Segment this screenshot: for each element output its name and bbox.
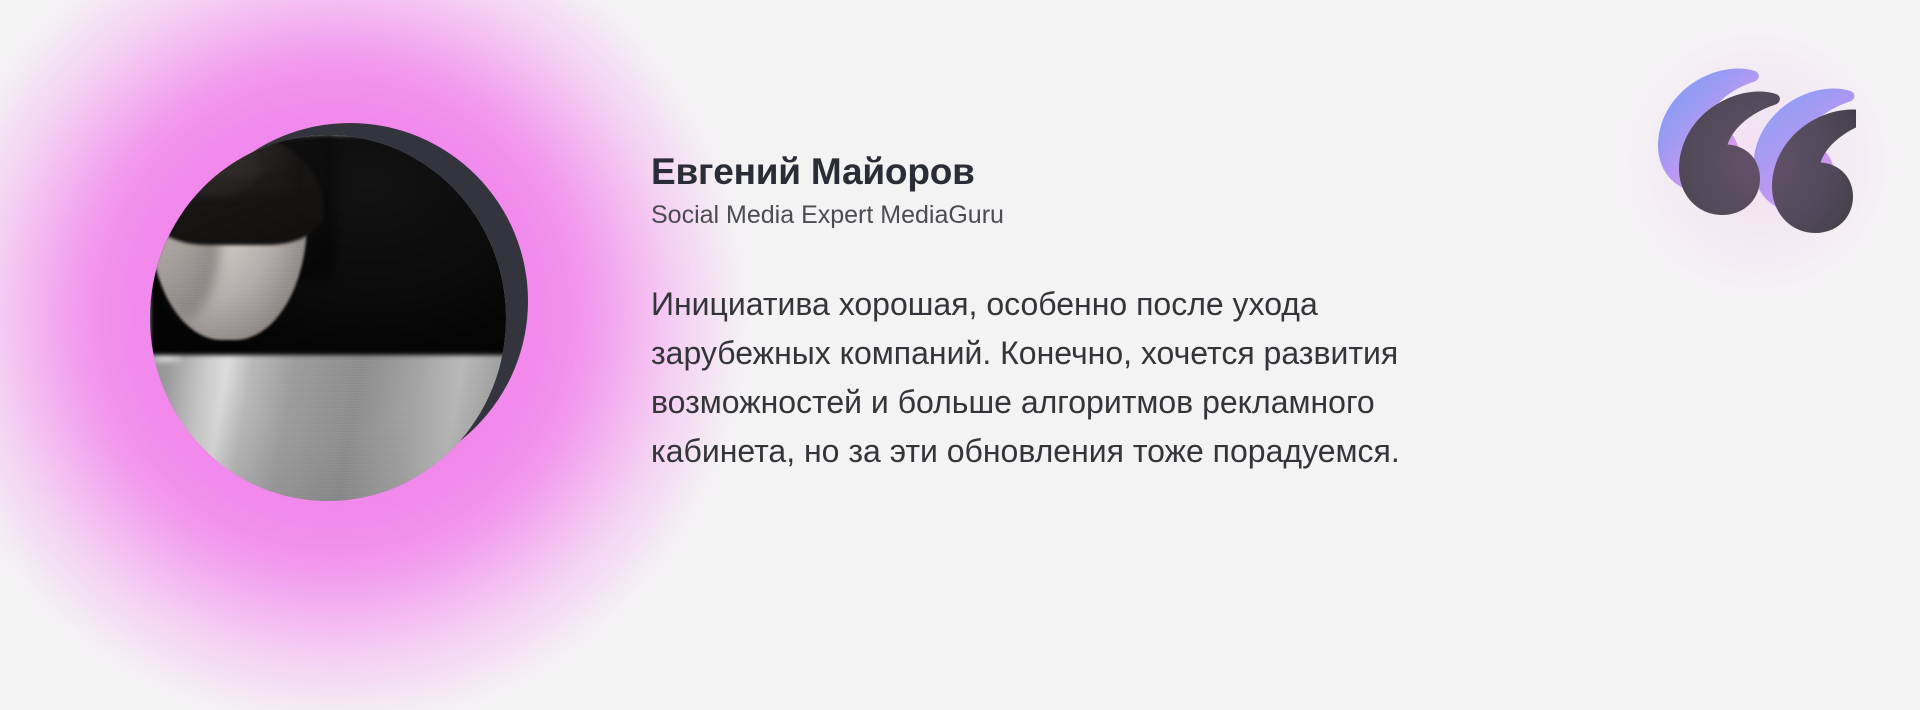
author-role: Social Media Expert MediaGuru — [651, 200, 1731, 230]
quotation-mark-icon — [1651, 58, 1856, 258]
quotation-mark-svg — [1651, 58, 1856, 258]
author-name: Евгений Майоров — [651, 150, 1731, 194]
avatar-photo — [150, 135, 506, 501]
quote-text: Инициатива хорошая, особенно после ухода… — [651, 280, 1686, 476]
testimonial-text: Евгений Майоров Social Media Expert Medi… — [651, 150, 1731, 476]
photo-vignette — [150, 135, 506, 501]
testimonial-card: Евгений Майоров Social Media Expert Medi… — [0, 0, 1920, 641]
quote-line: Инициатива хорошая, особенно после ухода — [651, 280, 1686, 329]
quote-line: возможностей и больше алгоритмов рекламн… — [651, 378, 1686, 427]
quote-line: кабинета, но за эти обновления тоже пора… — [651, 427, 1686, 476]
avatar — [150, 135, 506, 501]
quote-line: зарубежных компаний. Конечно, хочется ра… — [651, 329, 1686, 378]
